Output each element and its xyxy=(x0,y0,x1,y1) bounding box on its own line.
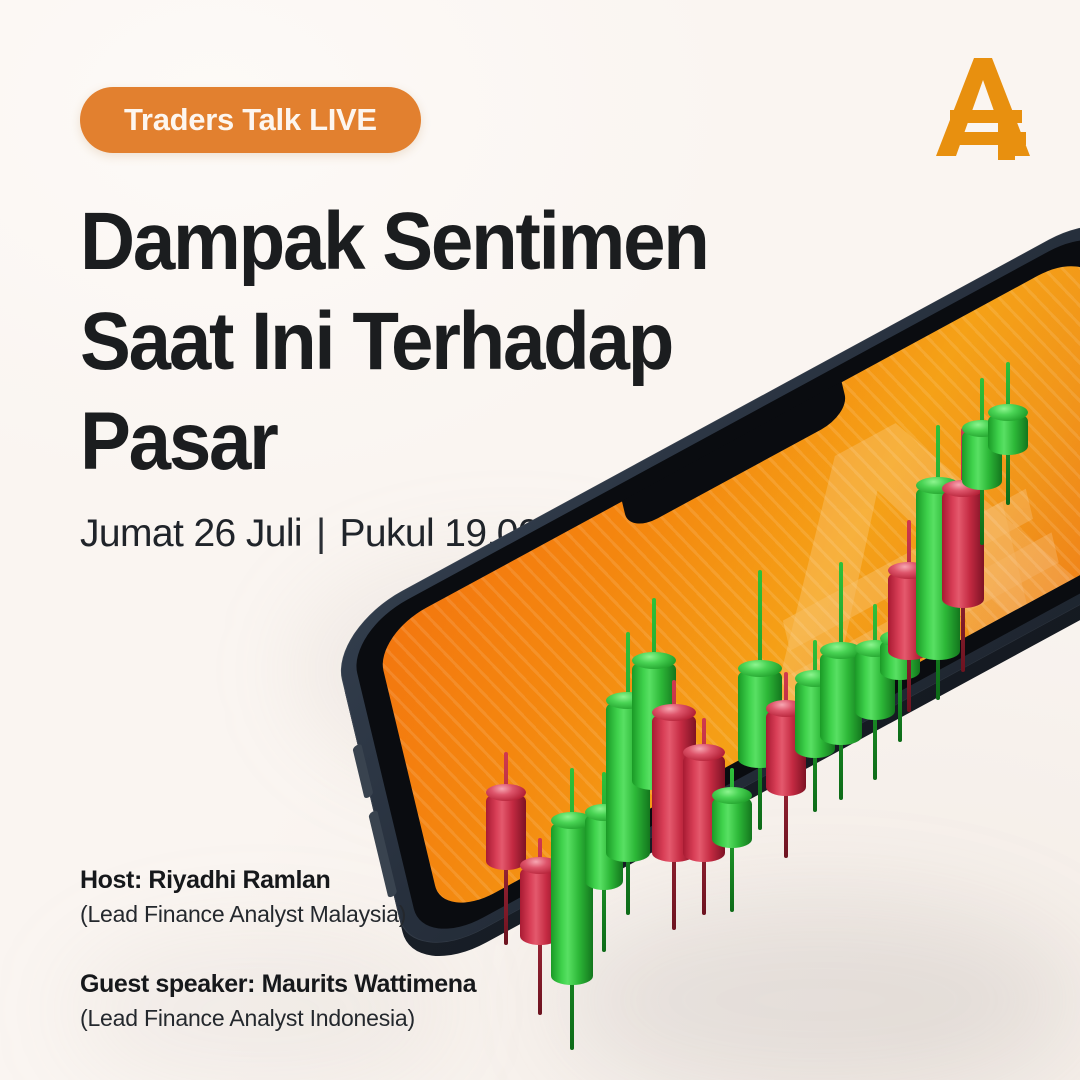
candle-top-cap xyxy=(988,404,1028,421)
aetos-a-logo-icon xyxy=(926,52,1038,160)
live-badge[interactable]: Traders Talk LIVE xyxy=(80,87,421,153)
credits-spacer xyxy=(80,928,476,970)
guest-role: (Lead Finance Analyst Indonesia) xyxy=(80,1005,476,1032)
live-badge-label: Traders Talk LIVE xyxy=(124,102,377,138)
title-line-1: Dampak Sentimen xyxy=(80,192,768,292)
host-role: (Lead Finance Analyst Malaysia) xyxy=(80,901,476,928)
candle-top-cap xyxy=(683,744,725,761)
guest-name: Guest speaker: Maurits Wattimena xyxy=(80,970,476,999)
candle-top-cap xyxy=(632,652,676,669)
host-name: Host: Riyadhi Ramlan xyxy=(80,866,476,895)
credits-block: Host: Riyadhi Ramlan (Lead Finance Analy… xyxy=(80,866,476,1032)
candle-20-up xyxy=(988,362,1028,505)
poster-canvas: Traders Talk LIVE Dampak Sentimen Saat I… xyxy=(0,0,1080,1080)
candle-top-cap xyxy=(486,784,526,801)
